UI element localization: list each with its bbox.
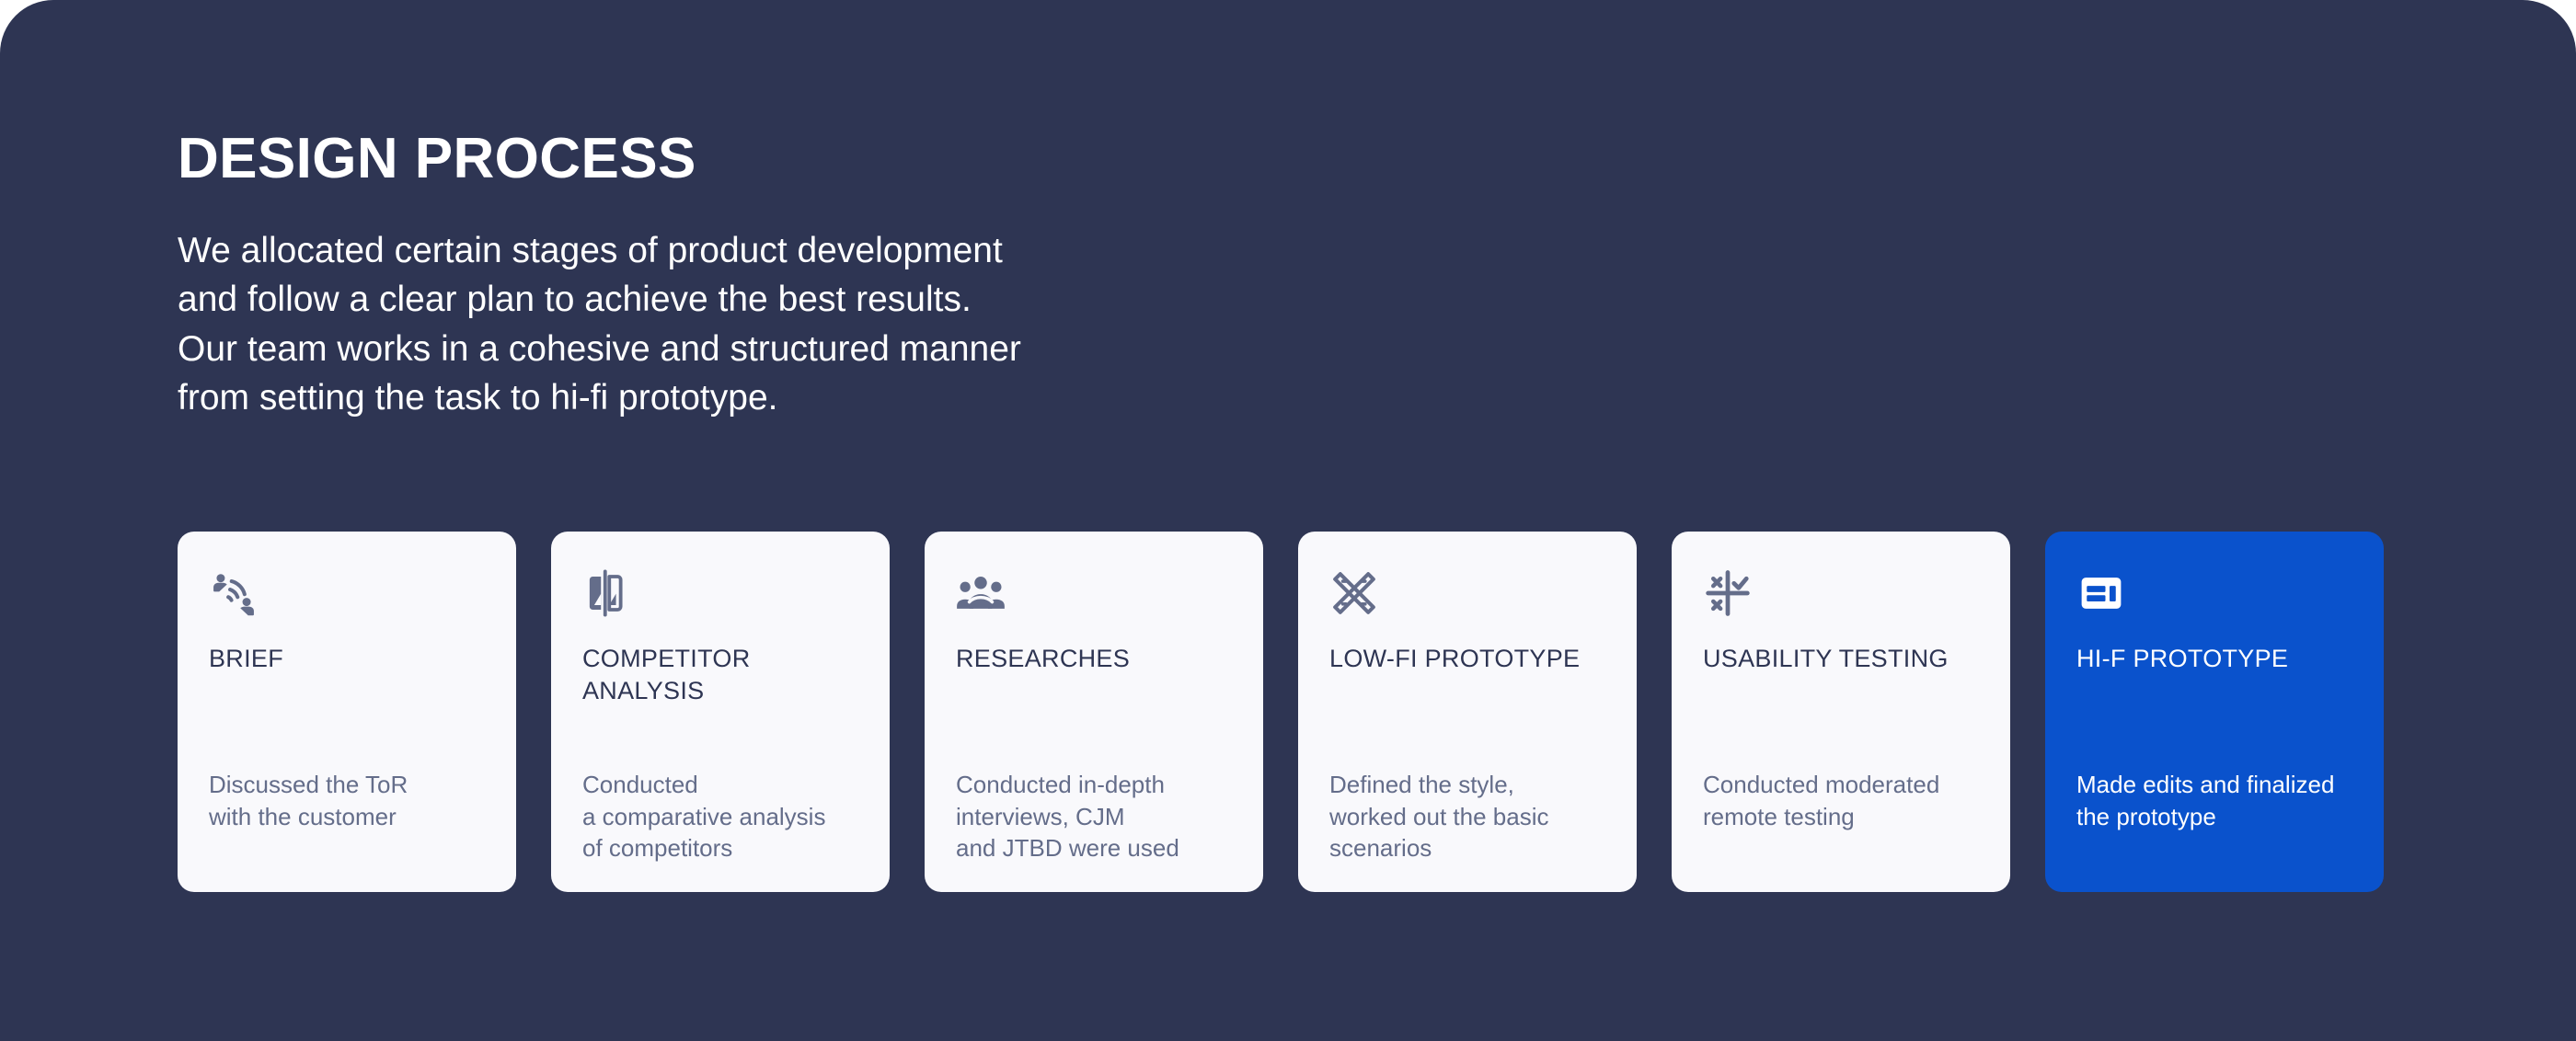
process-card-brief[interactable]: BRIEF Discussed the ToR with the custome… (178, 532, 516, 892)
card-title: COMPETITOR ANALYSIS (582, 643, 858, 706)
ab-testing-grid-icon (1703, 568, 1753, 618)
design-process-slide: DESIGN PROCESS We allocated certain stag… (0, 0, 2576, 1041)
connect-without-contact-icon (209, 568, 259, 618)
card-description: Conducted moderated remote testing (1703, 769, 1984, 832)
page-title: DESIGN PROCESS (178, 131, 1374, 188)
card-description: Discussed the ToR with the customer (209, 769, 490, 832)
process-card-low-fi-prototype[interactable]: LOW-FI PROTOTYPE Defined the style, work… (1298, 532, 1637, 892)
process-card-hi-fi-prototype[interactable]: HI-F PROTOTYPE Made edits and finalized … (2045, 532, 2384, 892)
wireframe-layout-icon (2076, 568, 2126, 618)
card-description: Conducted a comparative analysis of comp… (582, 769, 864, 864)
card-title: USABILITY TESTING (1703, 643, 1979, 675)
page-subtitle: We allocated certain stages of product d… (178, 226, 1374, 423)
process-card-usability-testing[interactable]: USABILITY TESTING Conducted moderated re… (1672, 532, 2010, 892)
card-title: LOW-FI PROTOTYPE (1329, 643, 1605, 675)
process-card-competitor-analysis[interactable]: COMPETITOR ANALYSIS Conducted a comparat… (551, 532, 890, 892)
process-card-researches[interactable]: RESEARCHES Conducted in-depth interviews… (925, 532, 1263, 892)
card-title: RESEARCHES (956, 643, 1232, 675)
card-description: Defined the style, worked out the basic … (1329, 769, 1611, 864)
card-title: BRIEF (209, 643, 485, 675)
groups-icon (956, 568, 1006, 618)
card-title: HI-F PROTOTYPE (2076, 643, 2352, 675)
process-card-list: BRIEF Discussed the ToR with the custome… (178, 532, 2384, 892)
card-description: Conducted in-depth interviews, CJM and J… (956, 769, 1237, 864)
card-description: Made edits and finalized the prototype (2076, 769, 2358, 832)
design-services-icon (1329, 568, 1379, 618)
compare-icon (582, 568, 632, 618)
header-block: DESIGN PROCESS We allocated certain stag… (178, 131, 1374, 423)
